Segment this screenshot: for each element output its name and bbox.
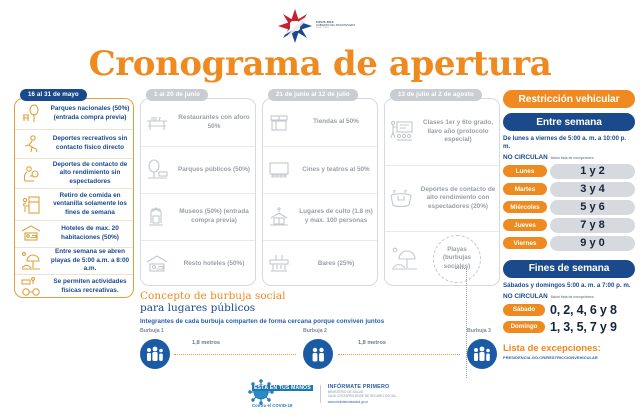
bubble-2 bbox=[303, 339, 333, 369]
info-logo-line-3[interactable]: www.ministeriodesalud.go.cr bbox=[328, 400, 397, 404]
list-item-text: Clases 1er y 6to grado, llavo año (proto… bbox=[417, 119, 499, 145]
entre-semana-banner: Entre semana bbox=[503, 113, 635, 131]
plates-martes: 3 y 4 bbox=[550, 182, 635, 197]
list-item: Se permiten actividades físicas recreati… bbox=[15, 274, 133, 298]
couple-group-icon bbox=[310, 346, 326, 362]
fines-de-semana-note: Sábados y domingos 5:00 a. m. a 7:00 p. … bbox=[503, 282, 635, 290]
burbuja-title-line-2: para lugares públicos bbox=[140, 302, 500, 314]
no-circulan-label: NO CIRCULAN bbox=[503, 293, 548, 300]
cinema-screen-icon bbox=[263, 157, 295, 183]
family-group-icon bbox=[145, 346, 165, 362]
exercise-bike-icon bbox=[15, 276, 47, 298]
restriccion-vehicular-banner: Restricción vehicular bbox=[503, 90, 635, 108]
list-item: Tiendas al 50% bbox=[263, 99, 377, 146]
bubble-3-label: Burbuja 3 bbox=[467, 328, 491, 334]
list-item: Lugares de culto (1.8 m) y max. 100 pers… bbox=[263, 193, 377, 240]
list-item-text: Hoteles de max. 20 habitaciones (50%) bbox=[47, 225, 133, 242]
column-3-box: Tiendas al 50% Cines y teatros al 50% Lu… bbox=[262, 98, 378, 286]
list-item-text: Tiendas al 50% bbox=[295, 118, 377, 127]
list-item-text: Cines y teatros al 50% bbox=[295, 166, 377, 175]
list-item-playas: Playas (burbujas sociales) bbox=[385, 231, 499, 285]
burbuja-title: Concepto de burbuja social para lugares … bbox=[140, 290, 500, 315]
burbuja-section: Concepto de burbuja social para lugares … bbox=[140, 290, 500, 375]
logo-divider bbox=[320, 385, 321, 403]
list-item-text: Parques nacionales (50%) (entrada compra… bbox=[47, 105, 133, 122]
exceptions-title: Lista de excepciones: bbox=[503, 343, 635, 354]
column-2-date-tag: 1 al 20 de junio bbox=[146, 89, 208, 101]
bar-counter-icon bbox=[263, 251, 295, 277]
timeline-column-2: 1 al 20 de junio Restaurantes con aforo … bbox=[140, 98, 256, 286]
plates-domingo: 1, 3, 5, 7 y 9 bbox=[550, 320, 617, 334]
list-item: Deportes recreativos sin contacto físico… bbox=[15, 129, 133, 158]
day-label-miercoles: Miércoles bbox=[503, 201, 547, 213]
church-icon bbox=[263, 204, 295, 230]
list-item: Restaurantes con aforo 50% bbox=[141, 99, 255, 146]
family-group-icon bbox=[472, 346, 492, 362]
logo-line-3: 2018 - 2022 bbox=[316, 27, 355, 29]
burbuja-diagram: Burbuja 1 1,8 metros Burbuja 2 1,8 metro… bbox=[140, 329, 500, 375]
list-item: Deportes de contacto de alto rendimiento… bbox=[385, 165, 499, 231]
plates-miercoles: 5 y 6 bbox=[550, 200, 635, 215]
classroom-board-icon bbox=[385, 117, 417, 147]
list-item-text: Parques públicos (50%) bbox=[173, 166, 255, 175]
column-2-box: Restaurantes con aforo 50% Parques públi… bbox=[140, 98, 256, 286]
day-label-sabado: Sábado bbox=[503, 304, 545, 316]
distance-dots-2 bbox=[338, 354, 460, 355]
bubble-3 bbox=[467, 339, 497, 369]
plates-lunes: 1 y 2 bbox=[550, 164, 635, 179]
list-item: Museos (50%) (entrada compra previa) bbox=[141, 193, 255, 240]
list-item: Parques públicos (50%) bbox=[141, 146, 255, 193]
burbuja-subtitle: Integrantes de cada burbuja comparten de… bbox=[140, 318, 500, 325]
restriccion-vehicular-panel: Restricción vehicular Entre semana De lu… bbox=[503, 90, 635, 360]
bubble-1 bbox=[140, 339, 170, 369]
distance-label-1: 1,8 metros bbox=[192, 340, 220, 346]
table-row: Martes 3 y 4 bbox=[503, 182, 635, 197]
list-item: Deportes de contacto de alto rendimiento… bbox=[15, 158, 133, 188]
column-1-box: Parques nacionales (50%) (entrada compra… bbox=[14, 98, 134, 298]
plates-sabado: 0, 2, 4, 6 y 8 bbox=[550, 303, 617, 317]
shop-awning-icon bbox=[263, 110, 295, 136]
playas-badge: Playas (burbujas sociales) bbox=[433, 235, 481, 283]
list-item-text: Retiro de comida en ventanilla solamente… bbox=[47, 192, 133, 218]
stadium-icon bbox=[385, 184, 417, 214]
restaurant-table-icon bbox=[141, 110, 173, 136]
virus-logo-line-2: Contra el COVID-19 bbox=[252, 403, 292, 408]
plates-jueves: 7 y 8 bbox=[550, 218, 635, 233]
page-title: Cronograma de apertura bbox=[0, 44, 640, 84]
table-row: Jueves 7 y 8 bbox=[503, 218, 635, 233]
hotel-bed-icon bbox=[141, 251, 173, 277]
list-item: Retiro de comida en ventanilla solamente… bbox=[15, 188, 133, 220]
column-4-date-tag: 13 de julio al 2 de agosto bbox=[390, 89, 482, 101]
public-park-icon bbox=[141, 157, 173, 183]
list-item-text: Se permiten actividades físicas recreati… bbox=[47, 278, 133, 295]
list-item: Resto hoteles (50%) bbox=[141, 240, 255, 286]
list-item: Parques nacionales (50%) (entrada compra… bbox=[15, 99, 133, 129]
table-row: Viernes 9 y 0 bbox=[503, 236, 635, 251]
list-item-text: Resto hoteles (50%) bbox=[173, 260, 255, 269]
takeout-window-icon bbox=[15, 194, 47, 216]
column-4-box: Clases 1er y 6to grado, llavo año (proto… bbox=[384, 98, 500, 286]
burbuja-title-line-1: Concepto de burbuja social bbox=[140, 290, 286, 302]
list-item-text: Entre semana se abren playas de 5:00 a.m… bbox=[47, 248, 133, 274]
informate-primero-logo: INFÓRMATE PRIMERO MINISTERIO DE SALUD CA… bbox=[328, 384, 397, 404]
day-label-viernes: Viernes bbox=[503, 237, 547, 249]
timeline-column-3: 21 de junio al 12 de julio Tiendas al 50… bbox=[262, 98, 378, 286]
list-item-text: Restaurantes con aforo 50% bbox=[173, 114, 255, 131]
list-item: Cines y teatros al 50% bbox=[263, 146, 377, 193]
fines-de-semana-banner: Fines de semana bbox=[503, 260, 635, 278]
list-item-text: Lugares de culto (1.8 m) y max. 100 pers… bbox=[295, 208, 377, 225]
list-item-text: Deportes de contacto de alto rendimiento… bbox=[47, 161, 133, 187]
column-1-date-tag: 16 al 31 de mayo bbox=[20, 89, 87, 101]
column-3-date-tag: 21 de junio al 12 de julio bbox=[268, 89, 358, 101]
bottom-logo-bar: ESTÁ EN TUS MANOS Contra el COVID-19 INF… bbox=[248, 380, 448, 408]
bubble-1-label: Burbuja 1 bbox=[140, 328, 164, 334]
list-item: Hoteles de max. 20 habitaciones (50%) bbox=[15, 220, 133, 247]
day-label-jueves: Jueves bbox=[503, 219, 547, 231]
esta-en-tus-manos-logo: ESTÁ EN TUS MANOS Contra el COVID-19 bbox=[248, 376, 313, 412]
government-logo: COSTA RICA GOBIERNO DEL BICENTENARIO 201… bbox=[277, 8, 373, 44]
entre-semana-no-circulan: NO CIRCULAN Salvo lista de excepciones bbox=[503, 154, 635, 161]
virus-logo-text: ESTÁ EN TUS MANOS Contra el COVID-19 bbox=[252, 376, 313, 412]
plates-viernes: 9 y 0 bbox=[550, 236, 635, 251]
day-label-lunes: Lunes bbox=[503, 165, 547, 177]
list-item-text: Deportes recreativos sin contacto físico… bbox=[47, 135, 133, 152]
fines-de-semana-no-circulan: NO CIRCULAN Salvo lista de excepciones bbox=[503, 293, 635, 300]
logo-wordmark: COSTA RICA GOBIERNO DEL BICENTENARIO 201… bbox=[316, 22, 355, 30]
day-label-martes: Martes bbox=[503, 183, 547, 195]
timeline-column-4: 13 de julio al 2 de agosto Clases 1er y … bbox=[384, 98, 500, 286]
distance-label-2: 1,8 metros bbox=[358, 340, 386, 346]
list-item-text: Deportes de contacto de alto rendimiento… bbox=[417, 186, 499, 212]
no-circulan-label: NO CIRCULAN bbox=[503, 154, 548, 161]
beach-umbrella-icon bbox=[15, 250, 47, 272]
exceptions-url[interactable]: PRESIDENCIA.GO.CR/RESTRICCIONVEHICULAR bbox=[503, 355, 635, 360]
no-circulan-note: Salvo lista de excepciones bbox=[551, 156, 594, 160]
distance-dots-1 bbox=[174, 354, 296, 355]
table-row: Miércoles 5 y 6 bbox=[503, 200, 635, 215]
info-logo-line-2: MINISTERIO DE SALUD CAJA COSTARRICENSE D… bbox=[328, 390, 397, 398]
costa-rica-star-icon bbox=[277, 8, 313, 44]
table-row: Sábado 0, 2, 4, 6 y 8 bbox=[503, 303, 635, 317]
list-item-text: Museos (50%) (entrada compra previa) bbox=[173, 208, 255, 225]
beach-umbrella-icon bbox=[385, 244, 425, 274]
museum-icon bbox=[141, 204, 173, 230]
running-person-icon bbox=[15, 133, 47, 155]
list-item: Bares (25%) bbox=[263, 240, 377, 286]
timeline-column-1: 16 al 31 de mayo Parques nacionales (50%… bbox=[14, 98, 134, 298]
header: COSTA RICA GOBIERNO DEL BICENTENARIO 201… bbox=[0, 0, 640, 90]
park-tree-icon bbox=[15, 103, 47, 125]
hotel-bed-icon bbox=[15, 223, 47, 245]
list-item: Entre semana se abren playas de 5:00 a.m… bbox=[15, 247, 133, 274]
entre-semana-note: De lunes a viernes de 5:00 a. m. a 10:00… bbox=[503, 135, 635, 151]
table-row: Lunes 1 y 2 bbox=[503, 164, 635, 179]
list-item-text: Bares (25%) bbox=[295, 260, 377, 269]
table-row: Domingo 1, 3, 5, 7 y 9 bbox=[503, 320, 635, 334]
no-circulan-note: Salvo lista de excepciones bbox=[551, 295, 594, 299]
list-item: Clases 1er y 6to grado, llavo año (proto… bbox=[385, 99, 499, 165]
boxing-icon bbox=[15, 163, 47, 185]
exceptions-block: Lista de excepciones: PRESIDENCIA.GO.CR/… bbox=[503, 343, 635, 360]
virus-logo-line-1: ESTÁ EN TUS MANOS bbox=[252, 385, 313, 391]
day-label-domingo: Domingo bbox=[503, 321, 545, 333]
bubble-2-label: Burbuja 2 bbox=[303, 328, 327, 334]
